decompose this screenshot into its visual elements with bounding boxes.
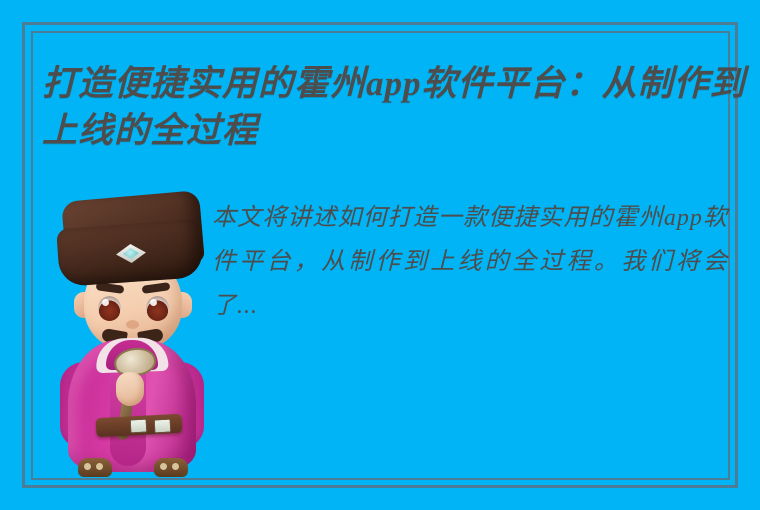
nose-icon [126,320,139,329]
belt-plaque-icon [154,419,172,434]
belt-plaque-icon [130,419,148,434]
eye-left-icon [98,296,121,321]
shoe-ornament-icon [160,463,167,470]
shoe-right-icon [154,458,188,477]
article-title: 打造便捷实用的霍州app软件平台：从制作到上线的全过程 [42,60,760,154]
shoe-ornament-icon [96,463,103,470]
shoe-left-icon [78,458,112,477]
eye-glint-left-icon [102,299,109,306]
shoe-ornament-icon [172,463,179,470]
eye-right-icon [146,296,169,321]
eye-glint-right-icon [150,299,157,306]
mascot-illustration [44,180,224,495]
article-excerpt: 本文将讲述如何打造一款便捷实用的霍州app软件平台，从制作到上线的全过程。我们将… [212,196,728,328]
hands-icon [116,372,144,406]
article-card: 打造便捷实用的霍州app软件平台：从制作到上线的全过程 本文将讲述如何打造一款便… [0,0,760,510]
shoe-ornament-icon [84,463,91,470]
